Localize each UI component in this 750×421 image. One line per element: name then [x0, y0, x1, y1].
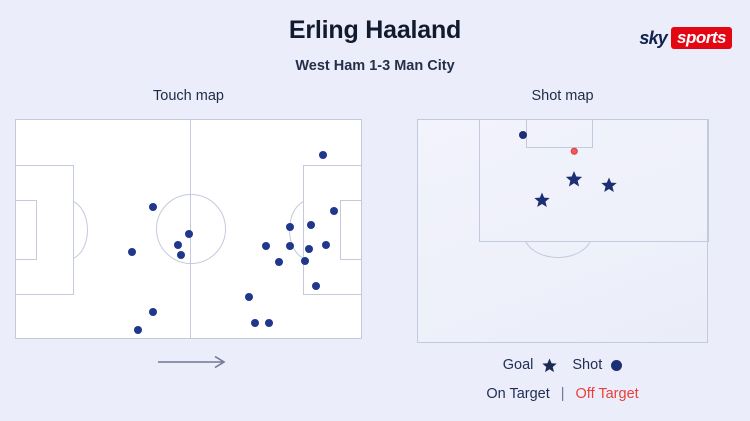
page-title: Erling Haaland [0, 16, 750, 45]
touch-dot [307, 221, 315, 229]
penalty-area [479, 119, 709, 242]
legend-on-target-label: On Target [486, 386, 549, 402]
penalty-arc [523, 242, 593, 258]
touch-dot [185, 230, 193, 238]
match-subtitle: West Ham 1-3 Man City [0, 58, 750, 74]
touch-dot [262, 242, 270, 250]
touch-dot [275, 258, 283, 266]
legend-shot-label: Shot [572, 357, 602, 373]
legend-separator: | [561, 386, 565, 402]
circle-icon [611, 360, 622, 371]
shot-off-target-marker [571, 148, 578, 155]
sky-sports-logo: sky sports [639, 28, 732, 48]
left-goal-area [15, 200, 37, 260]
touch-map-pitch [15, 119, 362, 339]
right-arrow-icon [158, 355, 230, 369]
touch-dot [174, 241, 182, 249]
sports-wordmark: sports [671, 27, 732, 49]
touch-dot [312, 282, 320, 290]
goal-star-marker [534, 192, 550, 208]
goal-area [526, 119, 593, 148]
touch-dot [245, 293, 253, 301]
legend-off-target-label: Off Target [576, 386, 639, 402]
touch-dot [128, 248, 136, 256]
visualization-root: Erling Haaland West Ham 1-3 Man City sky… [0, 0, 750, 421]
touch-dot [286, 223, 294, 231]
legend-symbols-row: Goal Shot [417, 357, 708, 373]
touch-dot [149, 308, 157, 316]
legend-targets-row: On Target | Off Target [417, 386, 708, 402]
left-penalty-arc [74, 200, 88, 260]
goal-star-marker [601, 177, 617, 193]
touch-dot [322, 241, 330, 249]
touch-map-heading: Touch map [15, 88, 362, 104]
star-icon [542, 358, 557, 373]
touch-dot [286, 242, 294, 250]
touch-dot [265, 319, 273, 327]
shot-on-target-marker [519, 131, 527, 139]
touch-dot [305, 245, 313, 253]
touch-dot [330, 207, 338, 215]
touch-dot [177, 251, 185, 259]
right-goal-area [340, 200, 362, 260]
touch-dot [319, 151, 327, 159]
touch-dot [149, 203, 157, 211]
shot-map-pitch [417, 119, 708, 343]
goal-star-marker [566, 171, 583, 188]
shot-map-heading: Shot map [417, 88, 708, 104]
touch-dot [134, 326, 142, 334]
touch-dot [251, 319, 259, 327]
legend-goal-label: Goal [503, 357, 534, 373]
touch-dot [301, 257, 309, 265]
sky-wordmark: sky [639, 29, 671, 47]
centre-circle [156, 194, 226, 264]
